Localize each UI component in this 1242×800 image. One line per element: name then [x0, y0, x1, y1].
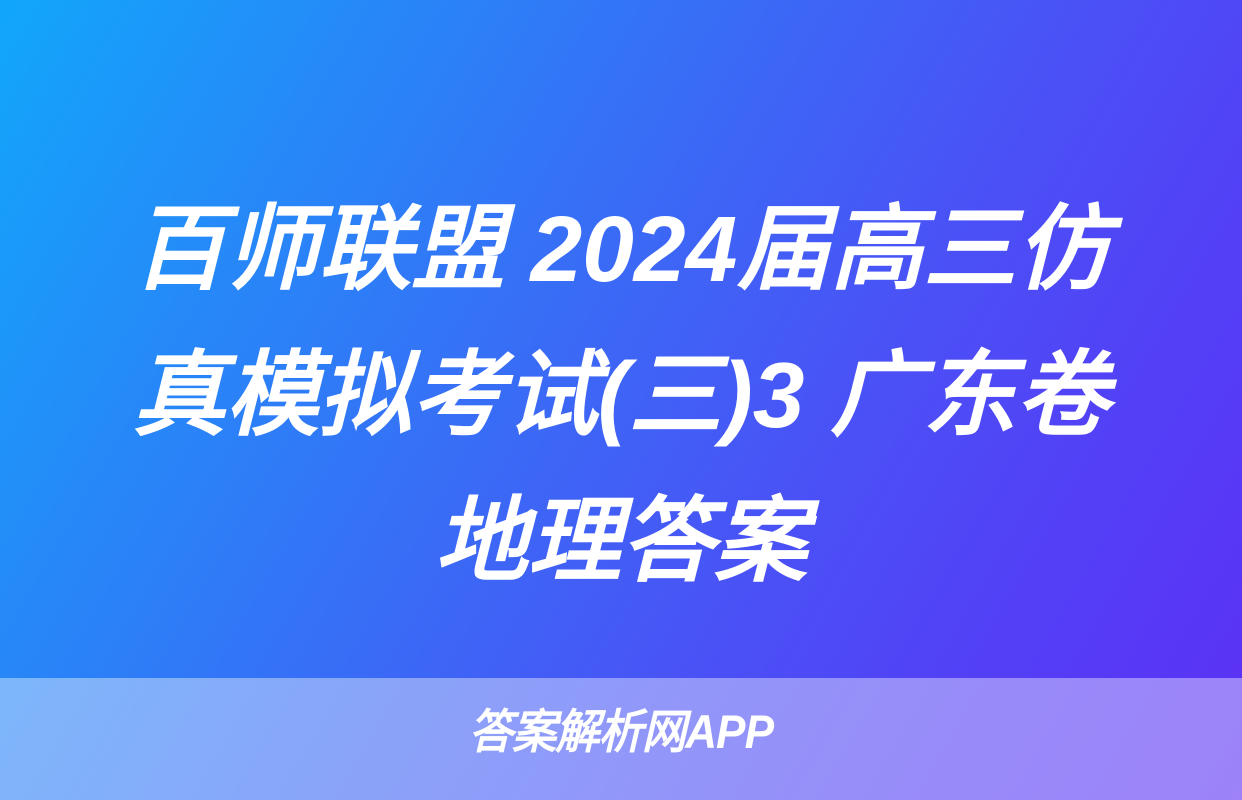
poster-canvas: 百师联盟 2024届高三仿 真模拟考试(三)3 广东卷 地理答案 答案解析网AP… [0, 0, 1242, 800]
title-line-1: 百师联盟 2024届高三仿 [0, 176, 1242, 322]
page-title: 百师联盟 2024届高三仿 真模拟考试(三)3 广东卷 地理答案 [0, 176, 1242, 614]
title-line-2: 真模拟考试(三)3 广东卷 [0, 322, 1242, 468]
title-line-3: 地理答案 [0, 468, 1242, 614]
watermark-brand: 答案解析网APP [37, 704, 1204, 760]
